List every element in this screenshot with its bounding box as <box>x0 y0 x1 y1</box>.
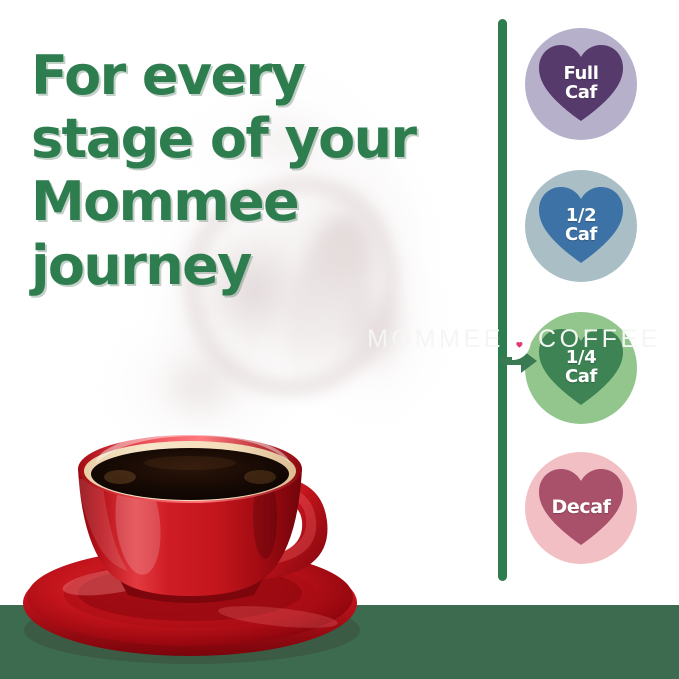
breast-heart-logo-mark <box>507 319 533 361</box>
badge-label-decaf: Decaf <box>551 498 610 518</box>
headline-line-1: For every <box>31 44 479 107</box>
headline-line-4: journey <box>31 234 479 297</box>
headline-line-3: Mommee <box>31 170 479 233</box>
badge-label-full-caf: Full Caf <box>564 65 599 102</box>
red-coffee-cup-and-saucer <box>10 405 380 670</box>
stage-progress-rail <box>498 19 507 581</box>
badge-label-half-caf: 1/2 Caf <box>565 207 597 244</box>
heart-shape: Full Caf <box>537 43 625 125</box>
page-title: For every stage of your Mommee journey <box>31 44 479 297</box>
badge-half-caf[interactable]: 1/2 Caf <box>525 170 637 282</box>
badge-full-caf[interactable]: Full Caf <box>525 28 637 140</box>
product-lifestyle-graphic: For every stage of your Mommee journey <box>0 0 679 679</box>
caffeine-stage-badges: Full Caf 1/2 Caf 1/4 Caf <box>525 28 645 583</box>
badge-decaf[interactable]: Decaf <box>525 452 637 564</box>
logo-word-left: MOMMEE <box>367 327 504 352</box>
headline-line-2: stage of your <box>31 107 479 170</box>
heart-shape: Decaf <box>537 467 625 549</box>
heart-shape: 1/2 Caf <box>537 185 625 267</box>
brand-logo[interactable]: MOMMEE COFFEE <box>367 319 661 361</box>
logo-word-right: COFFEE <box>538 327 661 352</box>
